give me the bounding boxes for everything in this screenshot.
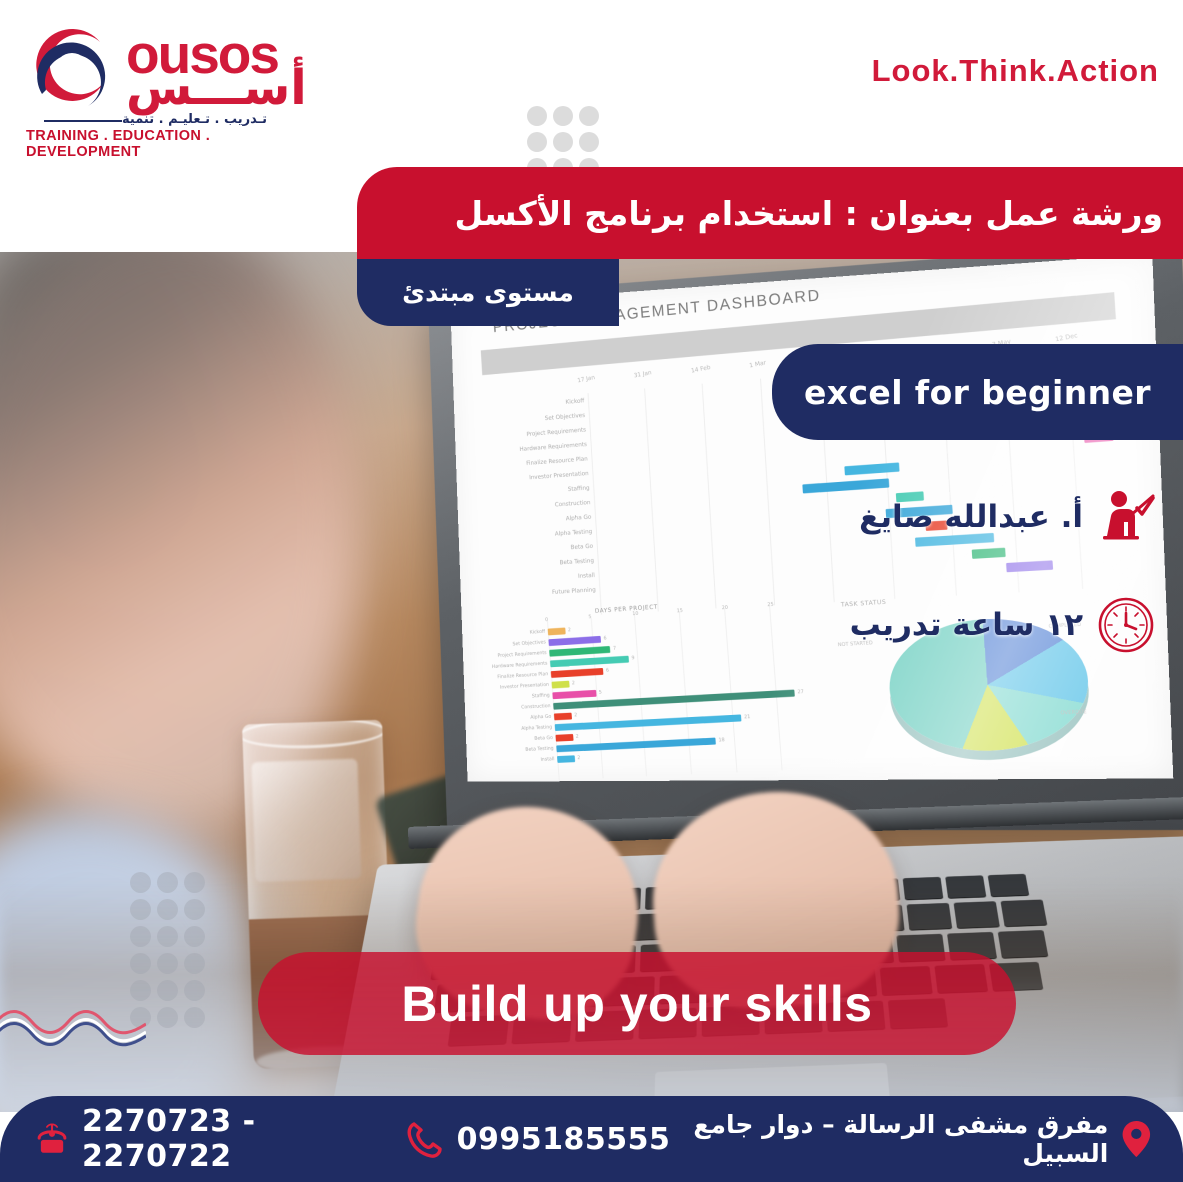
bar-chart-category-label: Investor Presentation: [500, 682, 549, 691]
bar-chart-value-label: 2: [568, 627, 571, 633]
bar-chart-category-label: Kickoff: [530, 629, 546, 636]
mobile-group[interactable]: 0995185555: [403, 1118, 671, 1160]
location-pin-icon: [1120, 1116, 1153, 1162]
bar-chart-category-label: Beta Testing: [525, 746, 554, 753]
bar-chart-bar: [548, 628, 566, 636]
gantt-task-label: Alpha Testing: [555, 528, 593, 537]
gantt-bar: [1006, 560, 1052, 572]
bar-chart-value-label: 18: [718, 737, 725, 743]
landline-group[interactable]: 2270723 - 2270722: [34, 1104, 369, 1174]
address-group[interactable]: مفرق مشفى الرسالة – دوار جامع السبيل: [670, 1110, 1153, 1168]
address-text: مفرق مشفى الرسالة – دوار جامع السبيل: [670, 1110, 1108, 1168]
decor-dot: [157, 872, 178, 893]
brand-logo[interactable]: ousos أســـس تـدريب . تـعليـم . تنمية TR…: [22, 16, 292, 144]
decor-dot: [130, 899, 151, 920]
decor-dot: [184, 980, 205, 1001]
logo-wordmark-ar: أســـس: [126, 60, 307, 116]
gantt-task-label: Project Requirements: [526, 426, 586, 437]
bar-chart-bar: [552, 690, 596, 699]
gantt-date-header: 17 Jan: [577, 374, 595, 384]
bar-chart-category-label: Staffing: [532, 693, 550, 700]
gantt-task-label: Hardware Requirements: [519, 441, 587, 453]
decor-dot: [157, 926, 178, 947]
bar-chart-tick-label: 5: [588, 614, 591, 620]
gantt-bar: [972, 548, 1006, 559]
decor-dot: [157, 953, 178, 974]
bar-chart-value-label: 2: [572, 680, 575, 686]
bar-chart-value-label: 9: [631, 655, 634, 661]
gantt-task-label: Install: [578, 572, 595, 580]
landline-phone-icon: [34, 1118, 70, 1160]
workshop-title-text: ورشة عمل بعنوان : استخدام برنامج الأكسل: [455, 194, 1164, 233]
gantt-date-header: 12 Dec: [1055, 332, 1079, 343]
hours-row: ١٢ ساعة تدريب: [850, 596, 1155, 654]
level-chip-text: مستوى مبتدئ: [402, 278, 574, 307]
decor-dot: [130, 953, 151, 974]
mobile-phone-icon: [403, 1118, 445, 1160]
poster-canvas: PROJECT MANAGEMENT DASHBOARD 17 Jan31 Ja…: [0, 0, 1183, 1182]
instructor-icon: [1097, 488, 1155, 546]
decor-dot: [184, 872, 205, 893]
bar-chart-tick-label: 10: [632, 611, 638, 617]
decor-dot: [527, 106, 547, 126]
decor-dot: [130, 872, 151, 893]
bar-chart-value-label: 7: [613, 646, 616, 652]
bar-chart-category-label: Hardware Requirements: [492, 661, 548, 670]
gantt-task-label: Future Planning: [552, 587, 596, 596]
pie-label-overdue: OVERDUE: [1060, 709, 1087, 717]
mobile-number: 0995185555: [457, 1122, 671, 1157]
decor-dot: [184, 953, 205, 974]
decor-dot: [157, 899, 178, 920]
bar-chart-tick-label: 20: [722, 605, 729, 611]
training-hours: ١٢ ساعة تدريب: [850, 607, 1083, 643]
bar-chart-value-label: 2: [576, 734, 579, 740]
bar-chart-value-label: 5: [599, 690, 602, 696]
decor-dot: [157, 1007, 178, 1028]
gantt-task-label: Kickoff: [565, 397, 584, 405]
course-name-box: excel for beginner: [772, 344, 1183, 440]
decor-dot: [184, 926, 205, 947]
bar-chart-category-label: Set Objectives: [512, 639, 546, 647]
course-name-text: excel for beginner: [804, 373, 1151, 412]
gantt-task-label: Investor Presentation: [529, 470, 589, 481]
decor-wave-ribbon: [0, 1006, 146, 1050]
bar-chart-tick-label: 0: [545, 617, 548, 623]
contact-footer: 2270723 - 2270722 0995185555 مفرق مشفى ا…: [0, 1096, 1183, 1182]
bar-chart-value-label: 6: [606, 668, 609, 674]
gantt-task-label: Beta Go: [570, 543, 593, 551]
gantt-task-label: Construction: [555, 499, 591, 508]
decor-dot: [553, 106, 573, 126]
bar-chart-category-label: Alpha Testing: [521, 724, 552, 731]
clock-icon: [1097, 596, 1155, 654]
decor-dot: [579, 106, 599, 126]
days-per-project-bar-chart: DAYS PER PROJECT 0510152025Kickoff2Set O…: [475, 592, 840, 782]
landline-number: 2270723 - 2270722: [82, 1104, 369, 1174]
workshop-title-banner: ورشة عمل بعنوان : استخدام برنامج الأكسل: [357, 167, 1183, 259]
gantt-bar: [845, 462, 900, 475]
bar-chart-value-label: 21: [744, 714, 751, 720]
bar-chart-category-label: Construction: [521, 703, 551, 710]
gantt-task-label: Staffing: [568, 485, 590, 493]
instructor-row: أ. عبدالله صايغ: [859, 488, 1155, 546]
bar-chart-value-label: 6: [603, 636, 606, 642]
gantt-task-label: Set Objectives: [545, 412, 586, 422]
bar-chart-category-label: Finalize Resource Plan: [497, 671, 548, 680]
gantt-task-label: Finalize Resource Plan: [526, 456, 588, 467]
decor-dot-grid-left: [130, 872, 205, 1028]
logo-subtitle-ar: تـدريب . تـعليـم . تنمية: [122, 112, 267, 127]
bar-chart-bar: [555, 734, 573, 742]
decor-dot: [527, 132, 547, 152]
gantt-date-header: 1 Mar: [749, 359, 767, 369]
decor-dot: [130, 980, 151, 1001]
bar-chart-category-label: Project Requirements: [497, 650, 546, 659]
bar-chart-category-label: Install: [540, 756, 554, 762]
bar-chart-value-label: 27: [797, 689, 804, 695]
decor-dot: [130, 926, 151, 947]
bar-chart-bar: [554, 713, 572, 721]
logo-subtitle-en: TRAINING . EDUCATION . DEVELOPMENT: [26, 128, 292, 160]
level-chip: مستوى مبتدئ: [357, 259, 619, 326]
bar-chart-category-label: Beta Go: [534, 735, 553, 742]
gantt-date-header: 14 Feb: [691, 364, 711, 375]
bar-chart-bar: [557, 755, 575, 763]
glass-rim: [242, 720, 387, 751]
bar-chart-bar: [552, 681, 570, 689]
gantt-task-label: Alpha Go: [566, 514, 592, 522]
bar-chart-tick-label: 15: [677, 608, 684, 614]
brand-tagline: Look.Think.Action: [872, 53, 1159, 89]
decor-dot: [157, 980, 178, 1001]
cta-text: Build up your skills: [401, 975, 872, 1033]
decor-dot: [184, 899, 205, 920]
gantt-task-label: Beta Testing: [559, 557, 594, 566]
instructor-name: أ. عبدالله صايغ: [859, 499, 1083, 535]
decor-dot: [579, 132, 599, 152]
decor-dot: [184, 1007, 205, 1028]
bar-chart-value-label: 2: [577, 755, 580, 761]
logo-rule: [44, 120, 122, 122]
bar-chart-tick-label: 25: [767, 602, 774, 608]
logo-mark-icon: [22, 20, 122, 120]
decor-dot: [553, 132, 573, 152]
bar-chart-category-label: Alpha Go: [530, 714, 551, 721]
cta-banner: Build up your skills: [258, 952, 1016, 1055]
bar-chart-value-label: 2: [574, 712, 577, 718]
glass-ice-cube: [251, 759, 361, 883]
gantt-date-header: 31 Jan: [633, 369, 652, 379]
